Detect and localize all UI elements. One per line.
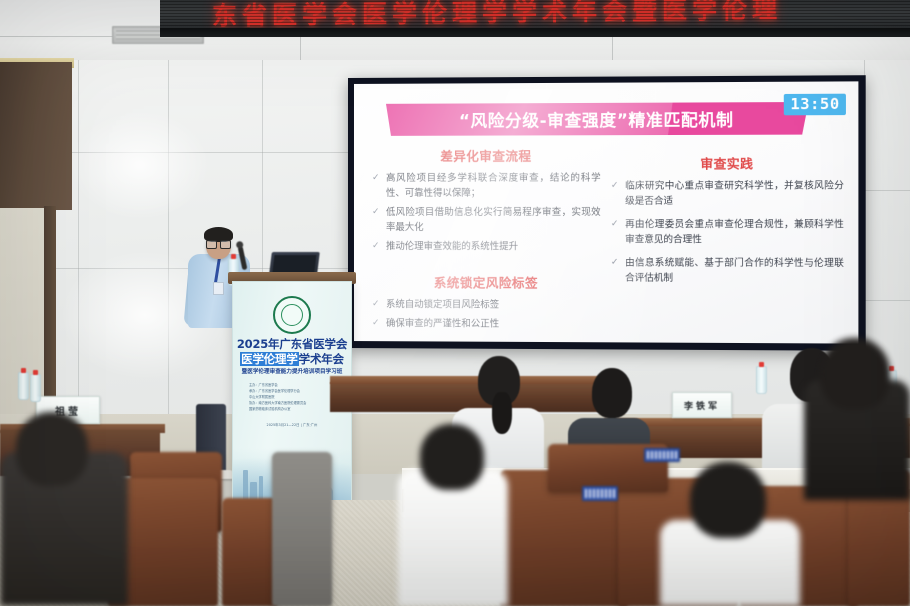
check-icon: ✓ — [372, 172, 380, 186]
check-icon: ✓ — [611, 218, 619, 232]
list-item: ✓低风险项目借助信息化实行简易程序审查，实现效率最大化 — [372, 206, 601, 235]
list-item-text: 由信息系统赋能、基于部门合作的科学性与伦理联合评估机制 — [625, 258, 844, 284]
list-item-text: 系统自动锁定项目风险标签 — [386, 299, 499, 310]
podium-organizers: 主办：广东省医学会 承办：广东省医学会医学伦理学分会 中山大学附属医院 协办：南… — [249, 382, 339, 412]
slide-title-text: “风险分级-审查强度”精准匹配机制 — [459, 106, 734, 131]
list-item-text: 高风险项目经多学科联合深度审查，结论的科学性、可靠性得以保障； — [386, 173, 601, 199]
water-bottle — [30, 374, 41, 402]
check-icon: ✓ — [372, 318, 380, 332]
section-heading: 系统锁定风险标签 — [372, 272, 601, 292]
speaker-glasses-icon — [206, 240, 231, 247]
conference-photo-scene: 东省医学会医学伦理学学术年会暨医学伦理 “风险分级-审查强度”精准匹配机制 13… — [0, 0, 910, 606]
audience-desk-surface — [330, 376, 610, 384]
check-icon: ✓ — [372, 240, 380, 254]
podium-title-line2: 医学伦理学学术年会 — [233, 351, 351, 367]
slide-columns: 差异化审查流程 ✓高风险项目经多学科联合深度审查，结论的科学性、可靠性得以保障；… — [372, 145, 844, 334]
wall-tile-seam — [858, 190, 910, 191]
podium-subtitle: 暨医学伦理审查能力提升培训项目学习班 — [233, 367, 351, 375]
seat-number-tag — [644, 448, 680, 462]
podium-title-plain: 学术年会 — [299, 352, 344, 366]
auditorium-seat — [222, 498, 278, 606]
bullet-list: ✓临床研究中心重点审查研究科学性，并复核风险分级是否合适 ✓再由伦理委员会重点审… — [611, 179, 844, 296]
list-item: ✓推动伦理审查效能的系统性提升 — [372, 240, 601, 255]
projection-screen: “风险分级-审查强度”精准匹配机制 13:50 差异化审查流程 ✓高风险项目经多… — [348, 75, 866, 351]
list-item-text: 确保审查的严谨性和公正性 — [386, 319, 499, 331]
led-banner-text: 东省医学会医学伦理学学术年会暨医学伦理 — [212, 0, 782, 30]
slide-column-right: 审查实践 ✓临床研究中心重点审查研究科学性，并复核风险分级是否合适 ✓再由伦理委… — [611, 145, 844, 334]
list-item-text: 推动伦理审查效能的系统性提升 — [386, 241, 518, 252]
society-logo-icon — [273, 296, 311, 334]
list-item-text: 低风险项目借助信息化实行简易程序审查，实现效率最大化 — [386, 207, 601, 233]
nameplate: 李铁军 — [672, 392, 732, 418]
slide-column-left: 差异化审查流程 ✓高风险项目经多学科联合深度审查，结论的科学性、可靠性得以保障；… — [372, 145, 601, 332]
speaker-badge — [213, 282, 224, 295]
presentation-timer: 13:50 — [784, 94, 846, 116]
wood-column — [0, 62, 72, 210]
auditorium-seat-column — [272, 452, 332, 606]
check-icon: ✓ — [372, 298, 380, 312]
list-item-text: 临床研究中心重点审查研究科学性，并复核风险分级是否合适 — [625, 180, 844, 206]
section-heading: 差异化审查流程 — [372, 145, 601, 165]
wall-tile-seam — [168, 60, 169, 420]
bullet-list: ✓系统自动锁定项目风险标签 ✓确保审查的严谨性和公正性 — [372, 298, 601, 338]
list-item: ✓高风险项目经多学科联合深度审查，结论的科学性、可靠性得以保障； — [372, 172, 601, 202]
led-banner-bottom-frame — [160, 28, 910, 37]
wall-tile-seam — [78, 60, 79, 420]
check-icon: ✓ — [611, 180, 619, 194]
section-heading: 审查实践 — [611, 153, 844, 173]
podium-title-line1: 2025年广东省医学会 — [233, 336, 351, 352]
list-item: ✓由信息系统赋能、基于部门合作的科学性与伦理联合评估机制 — [611, 257, 844, 287]
slide-title-banner: “风险分级-审查强度”精准匹配机制 — [386, 102, 809, 136]
water-bottle — [756, 366, 767, 394]
podium-title-highlight: 医学伦理学 — [240, 352, 299, 366]
list-item: ✓系统自动锁定项目风险标签 — [372, 298, 601, 314]
podium-date: 2025年3月21—22日 | 广东·广州 — [233, 422, 351, 427]
wall-tile-seam — [858, 300, 910, 301]
list-item: ✓临床研究中心重点审查研究科学性，并复核风险分级是否合适 — [611, 179, 844, 209]
check-icon: ✓ — [372, 206, 380, 220]
list-item: ✓确保审查的严谨性和公正性 — [372, 318, 601, 334]
check-icon: ✓ — [611, 257, 619, 271]
water-bottle — [18, 372, 29, 400]
seat-number-tag — [582, 486, 618, 501]
organizer-line: 国家药物临床试验机构办公室 — [249, 406, 339, 412]
list-item: ✓再由伦理委员会重点审查伦理合规性，兼顾科学性审查意见的合理性 — [611, 218, 844, 248]
projection-screen-surface: “风险分级-审查强度”精准匹配机制 13:50 差异化审查流程 ✓高风险项目经多… — [354, 81, 858, 343]
led-banner: 东省医学会医学伦理学学术年会暨医学伦理 — [160, 0, 910, 30]
list-item-text: 再由伦理委员会重点审查伦理合规性，兼顾科学性审查意见的合理性 — [625, 219, 844, 245]
presentation-slide: “风险分级-审查强度”精准匹配机制 13:50 差异化审查流程 ✓高风险项目经多… — [354, 81, 858, 343]
bullet-list: ✓高风险项目经多学科联合深度审查，结论的科学性、可靠性得以保障； ✓低风险项目借… — [372, 172, 601, 261]
